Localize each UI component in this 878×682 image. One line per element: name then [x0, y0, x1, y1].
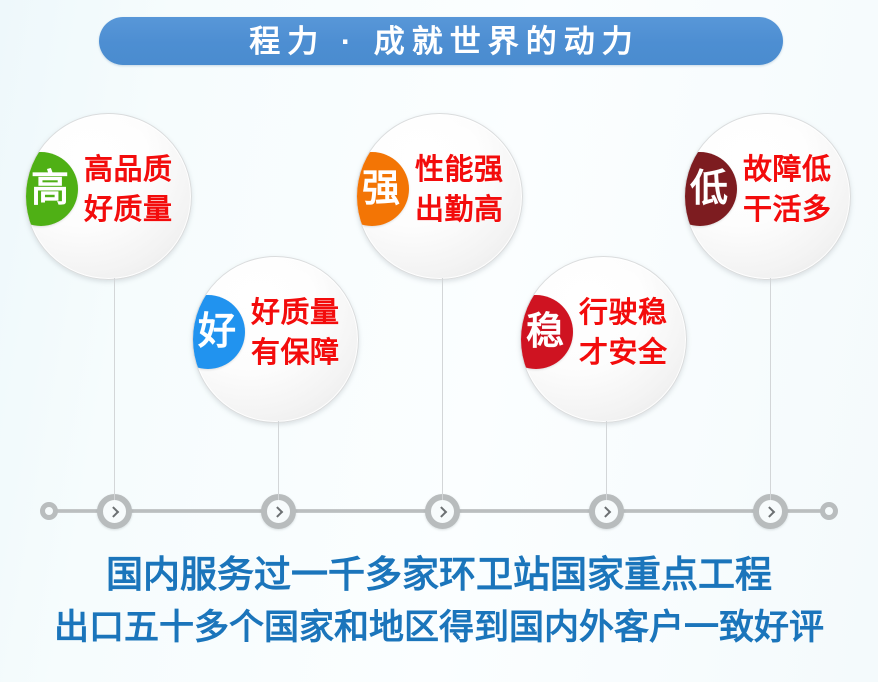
feature-badge-5: 低 — [684, 152, 737, 226]
footer-text-block: 国内服务过一千多家环卫站国家重点工程 出口五十多个国家和地区得到国内外客户一致好… — [0, 548, 878, 654]
feature-line2-5: 干活多 — [743, 190, 832, 230]
chevron-right-icon — [763, 506, 774, 517]
connector-line-3 — [442, 278, 443, 500]
feature-badge-label-2: 好 — [198, 313, 236, 351]
footer-line-2: 出口五十多个国家和地区得到国内外客户一致好评 — [0, 601, 878, 654]
feature-text-4: 行驶稳 才安全 — [579, 293, 668, 373]
feature-text-3: 性能强 出勤高 — [415, 150, 504, 230]
feature-line1-5: 故障低 — [743, 150, 832, 190]
promo-page: 程力 · 成就世界的动力 高 高品质 好质量 好 好质量 有保障 强 性能强 出… — [0, 0, 878, 682]
feature-bubble-5: 低 故障低 干活多 — [684, 113, 851, 280]
feature-line2-3: 出勤高 — [415, 190, 504, 230]
feature-badge-1: 高 — [25, 152, 78, 226]
feature-badge-2: 好 — [192, 295, 245, 369]
feature-bubble-4: 稳 行驶稳 才安全 — [520, 256, 687, 423]
feature-badge-label-1: 高 — [31, 170, 69, 208]
chevron-right-icon — [435, 506, 446, 517]
feature-line2-2: 有保障 — [251, 333, 340, 373]
connector-line-4 — [606, 421, 607, 500]
feature-badge-label-5: 低 — [690, 170, 728, 208]
feature-text-1: 高品质 好质量 — [84, 150, 173, 230]
feature-line2-1: 好质量 — [84, 190, 173, 230]
feature-text-5: 故障低 干活多 — [743, 150, 832, 230]
timeline-end-dot-left — [40, 502, 58, 520]
feature-badge-label-4: 稳 — [526, 313, 564, 351]
feature-badge-4: 稳 — [520, 295, 573, 369]
feature-line1-3: 性能强 — [415, 150, 504, 190]
feature-bubble-3: 强 性能强 出勤高 — [356, 113, 523, 280]
feature-badge-3: 强 — [356, 152, 409, 226]
feature-bubble-1: 高 高品质 好质量 — [25, 113, 192, 280]
connector-line-5 — [770, 278, 771, 500]
chevron-right-icon — [107, 506, 118, 517]
header-banner: 程力 · 成就世界的动力 — [99, 17, 783, 65]
chevron-right-icon — [599, 506, 610, 517]
banner-title: 程力 · 成就世界的动力 — [242, 26, 640, 57]
timeline-end-dot-right — [820, 502, 838, 520]
feature-line1-4: 行驶稳 — [579, 293, 668, 333]
feature-badge-label-3: 强 — [362, 170, 400, 208]
connector-line-1 — [114, 278, 115, 500]
chevron-right-icon — [271, 506, 282, 517]
timeline — [0, 480, 878, 542]
connector-line-2 — [278, 421, 279, 500]
feature-text-2: 好质量 有保障 — [251, 293, 340, 373]
feature-bubble-2: 好 好质量 有保障 — [192, 256, 359, 423]
footer-line-1: 国内服务过一千多家环卫站国家重点工程 — [0, 548, 878, 601]
feature-line2-4: 才安全 — [579, 333, 668, 373]
feature-line1-1: 高品质 — [84, 150, 173, 190]
feature-line1-2: 好质量 — [251, 293, 340, 333]
